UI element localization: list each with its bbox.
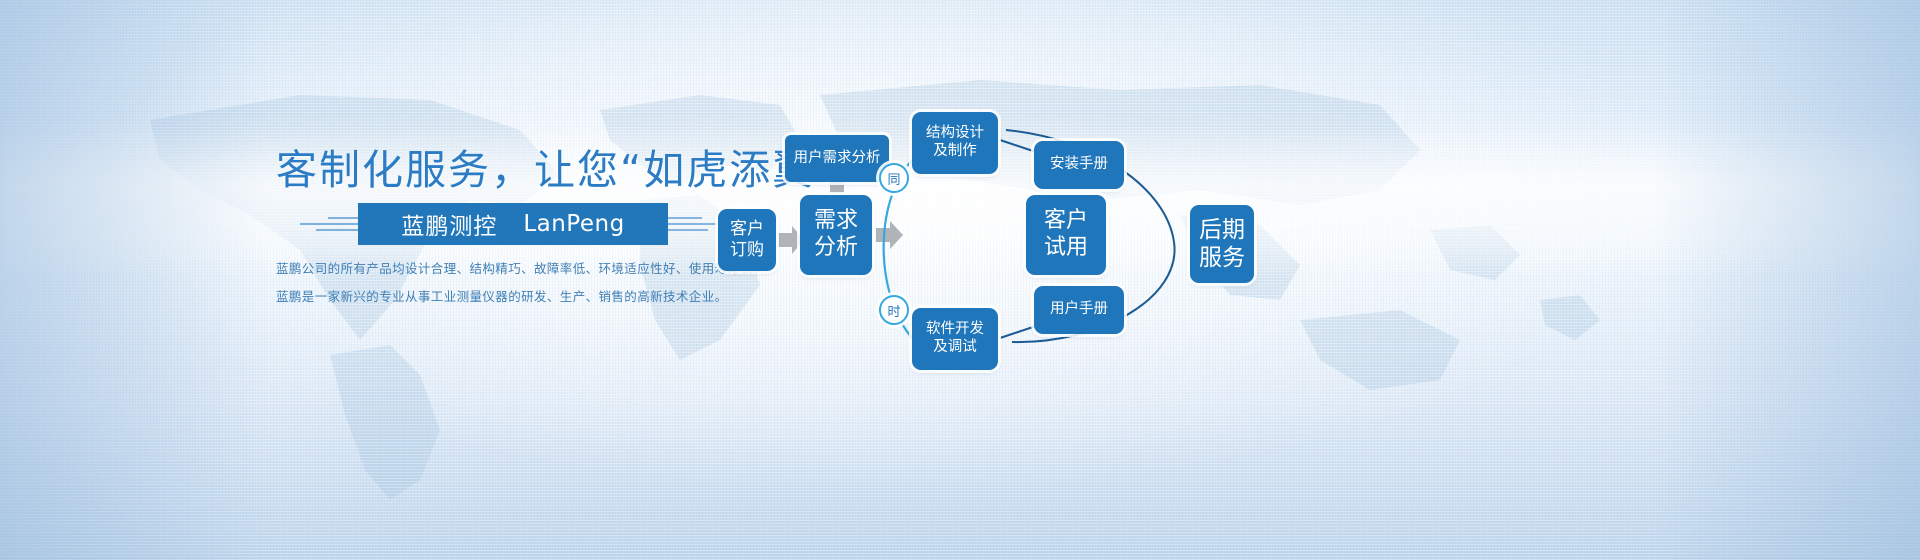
node-customer-order[interactable]: 客户 订购 — [718, 209, 776, 271]
node-customer-order-line1: 客户 — [730, 219, 764, 239]
badge-tong: 同 — [879, 163, 909, 193]
node-structure-design-line1: 结构设计 — [926, 125, 984, 141]
node-after-service[interactable]: 后期 服务 — [1190, 205, 1254, 283]
node-customer-order-line2: 订购 — [730, 240, 764, 260]
subtext-line-2: 蓝鹏是一家新兴的专业从事工业测量仪器的研发、生产、销售的高新技术企业。 — [276, 283, 696, 311]
connector-soft-manual — [1000, 326, 1036, 338]
brand-name-cn: 蓝鹏测控 — [401, 207, 497, 241]
node-customer-trial-line1: 客户 — [1044, 208, 1088, 233]
node-user-manual[interactable]: 用户手册 — [1034, 286, 1124, 334]
node-software-dev[interactable]: 软件开发 及调试 — [912, 308, 998, 370]
connector-struct-install — [1000, 140, 1036, 152]
node-structure-design[interactable]: 结构设计 及制作 — [912, 112, 998, 174]
node-software-dev-line1: 软件开发 — [926, 321, 984, 337]
node-customer-trial[interactable]: 客户 试用 — [1026, 195, 1106, 275]
node-after-service-line2: 服务 — [1199, 245, 1245, 271]
brand-bar-wrap: 蓝鹏测控 LanPeng — [300, 203, 724, 245]
banner-root: 客制化服务，让您“如虎添翼” 蓝鹏测控 LanPeng 蓝鹏公司的所有产品均设计… — [0, 0, 1920, 560]
brand-bar: 蓝鹏测控 LanPeng — [358, 203, 668, 245]
node-demand-analysis-line2: 分析 — [814, 235, 858, 260]
node-user-demand-analysis[interactable]: 用户需求分析 — [785, 135, 889, 182]
node-demand-analysis[interactable]: 需求 分析 — [800, 195, 872, 275]
node-structure-design-line2: 及制作 — [933, 143, 977, 159]
node-after-service-line1: 后期 — [1199, 217, 1245, 243]
node-install-manual[interactable]: 安装手册 — [1034, 141, 1124, 189]
subtext-block: 蓝鹏公司的所有产品均设计合理、结构精巧、故障率低、环境适应性好、使用寿命长。 蓝… — [276, 255, 696, 311]
node-software-dev-line2: 及调试 — [933, 339, 977, 355]
decor-lines-left-icon — [300, 215, 358, 233]
badge-shi: 时 — [879, 295, 909, 325]
arrow-demand-to-cycle — [876, 221, 903, 249]
subtext-line-1: 蓝鹏公司的所有产品均设计合理、结构精巧、故障率低、环境适应性好、使用寿命长。 — [276, 255, 696, 283]
brand-name-en: LanPeng — [523, 211, 624, 237]
node-customer-trial-line2: 试用 — [1044, 235, 1088, 260]
workflow-diagram: 用户需求分析 客户 订购 需求 分析 结构设计 及制作 软件开发 及调试 — [700, 90, 1840, 420]
node-demand-analysis-line1: 需求 — [814, 208, 858, 233]
